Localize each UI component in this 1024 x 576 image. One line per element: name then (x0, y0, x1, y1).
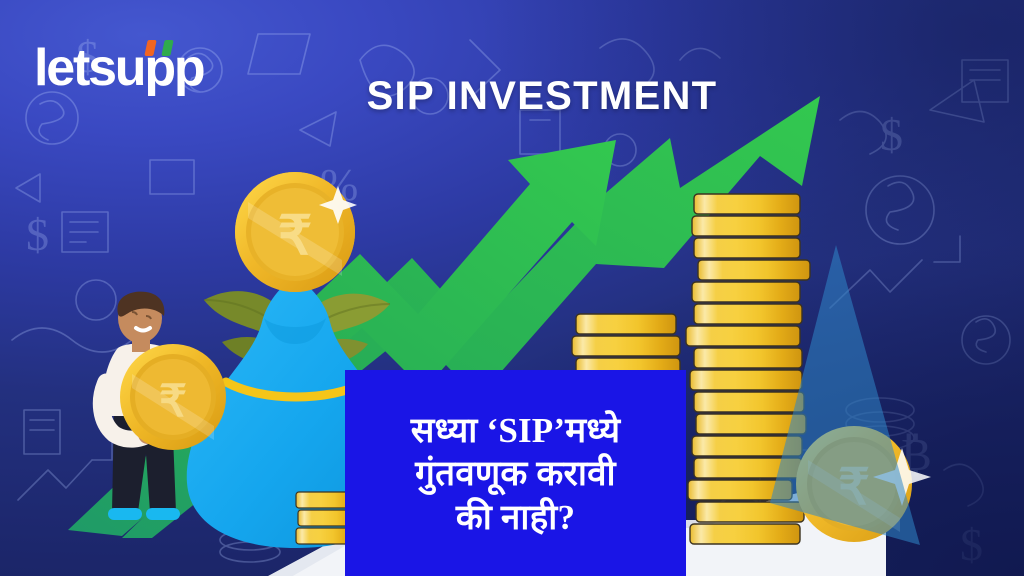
svg-text:₹: ₹ (159, 377, 187, 426)
promo-graphic: $ ₹ $ $ $ ₿ $ % letsupp SIP INVESTMENT (0, 0, 1024, 576)
rupee-coin-top: ₹ (235, 172, 357, 292)
caption-line-3: की नाही? (456, 497, 575, 538)
caption-line-1: सध्या ‘SIP’मध्ये (411, 410, 621, 451)
caption-box: सध्या ‘SIP’मध्ये गुंतवणूक करावी की नाही? (345, 370, 686, 576)
page-title: SIP INVESTMENT (0, 74, 1024, 119)
rupee-coin-held: ₹ (118, 342, 228, 452)
svg-text:₹: ₹ (278, 206, 312, 266)
caption-line-2: गुंतवणूक करावी (415, 453, 616, 494)
teal-triangle-accent (770, 245, 940, 550)
